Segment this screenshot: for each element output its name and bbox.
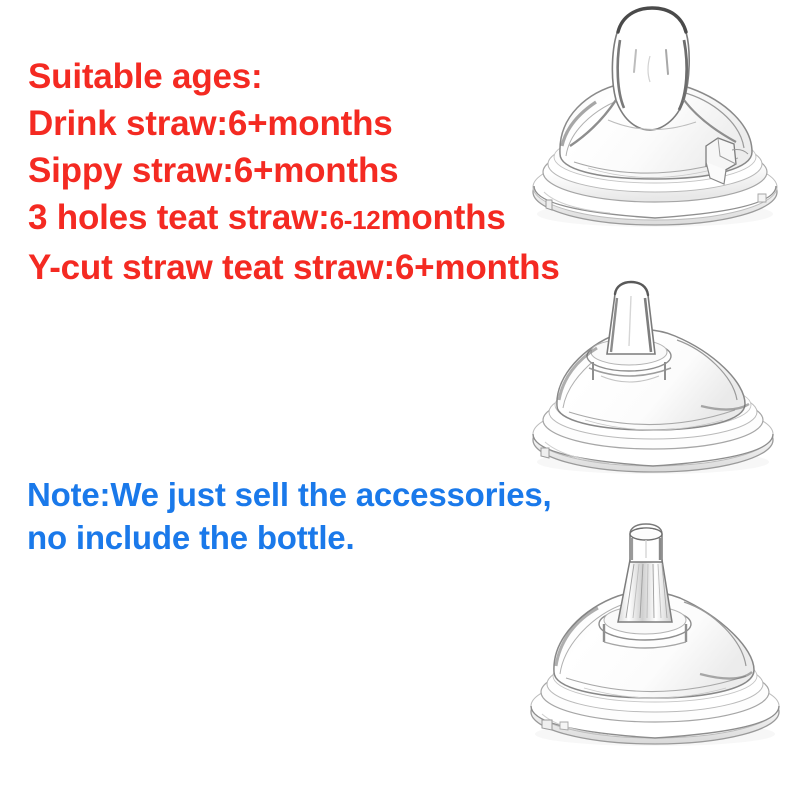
note-line-1: Note:We just sell the accessories, <box>27 473 551 516</box>
ages-line-3-holes-teat-straw: 3 holes teat straw:6-12months <box>28 194 560 244</box>
note-text-block: Note:We just sell the accessories, no in… <box>27 473 551 559</box>
ages-line-sippy-straw: Sippy straw:6+months <box>28 147 560 194</box>
note-line-2: no include the bottle. <box>27 516 551 559</box>
ages-line-3-holes-unit: months <box>380 198 505 237</box>
product-info-image: Suitable ages: Drink straw:6+months Sipp… <box>0 0 800 800</box>
ages-heading: Suitable ages: <box>28 53 560 100</box>
ages-line-y-cut-straw-teat: Y-cut straw teat straw:6+months <box>28 244 560 291</box>
ages-line-3-holes-label: 3 holes teat straw: <box>28 198 330 237</box>
suitable-ages-text-block: Suitable ages: Drink straw:6+months Sipp… <box>28 53 560 291</box>
product-image-sippy-spout-teat <box>505 272 800 482</box>
ages-line-drink-straw: Drink straw:6+months <box>28 100 560 147</box>
ages-line-3-holes-age: 6-12 <box>330 205 381 235</box>
